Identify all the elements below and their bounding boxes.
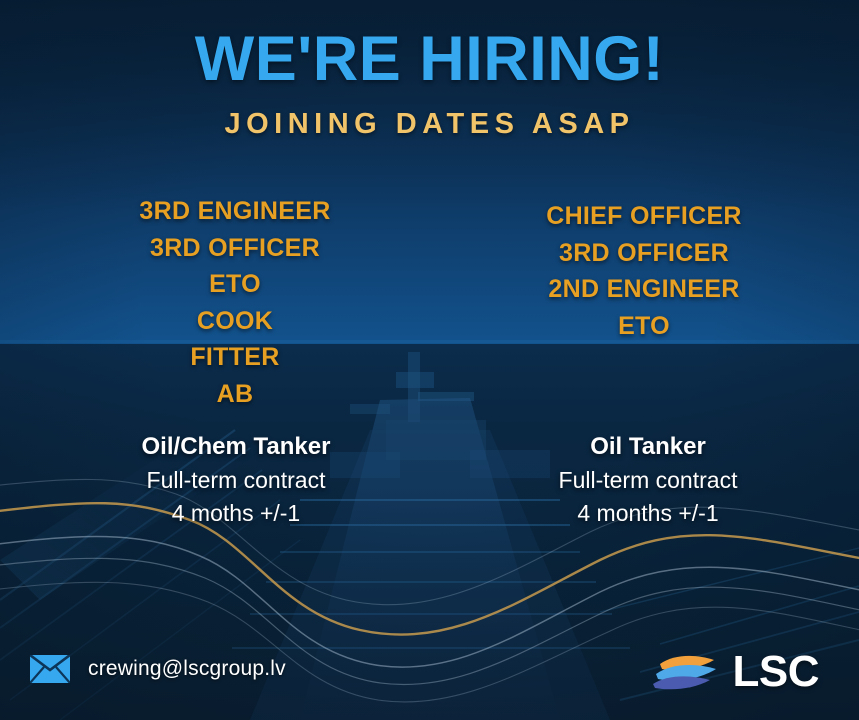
position-item: 3RD OFFICER — [498, 235, 790, 272]
position-item: ETO — [498, 308, 790, 345]
position-item: FITTER — [90, 339, 380, 376]
position-item: CHIEF OFFICER — [498, 198, 790, 235]
vessel-type: Oil Tanker — [500, 430, 796, 464]
position-item: COOK — [90, 303, 380, 340]
position-item: 2ND ENGINEER — [498, 271, 790, 308]
contract-type: Full-term contract — [500, 464, 796, 497]
positions-list-right: CHIEF OFFICER 3RD OFFICER 2ND ENGINEER E… — [498, 198, 790, 344]
lsc-wave-logo-icon — [652, 651, 724, 693]
hiring-poster: WE'RE HIRING! JOINING DATES ASAP 3RD ENG… — [0, 0, 859, 720]
lsc-logo: LSC — [652, 650, 820, 694]
position-item: AB — [90, 376, 380, 413]
subtitle: JOINING DATES ASAP — [0, 108, 859, 141]
contract-duration: 4 moths +/-1 — [88, 497, 384, 530]
contact-email-block[interactable]: crewing@lscgroup.lv — [30, 655, 286, 683]
email-address[interactable]: crewing@lscgroup.lv — [88, 657, 286, 681]
envelope-icon — [30, 655, 70, 683]
vessel-details-right: Oil Tanker Full-term contract 4 months +… — [500, 430, 796, 529]
position-item: 3RD OFFICER — [90, 230, 380, 267]
positions-list-left: 3RD ENGINEER 3RD OFFICER ETO COOK FITTER… — [90, 193, 380, 412]
position-item: ETO — [90, 266, 380, 303]
contract-duration: 4 months +/-1 — [500, 497, 796, 530]
lsc-logo-text: LSC — [733, 650, 820, 694]
position-item: 3RD ENGINEER — [90, 193, 380, 230]
vessel-details-left: Oil/Chem Tanker Full-term contract 4 mot… — [88, 430, 384, 529]
page-title: WE'RE HIRING! — [0, 26, 859, 92]
contract-type: Full-term contract — [88, 464, 384, 497]
vessel-type: Oil/Chem Tanker — [88, 430, 384, 464]
